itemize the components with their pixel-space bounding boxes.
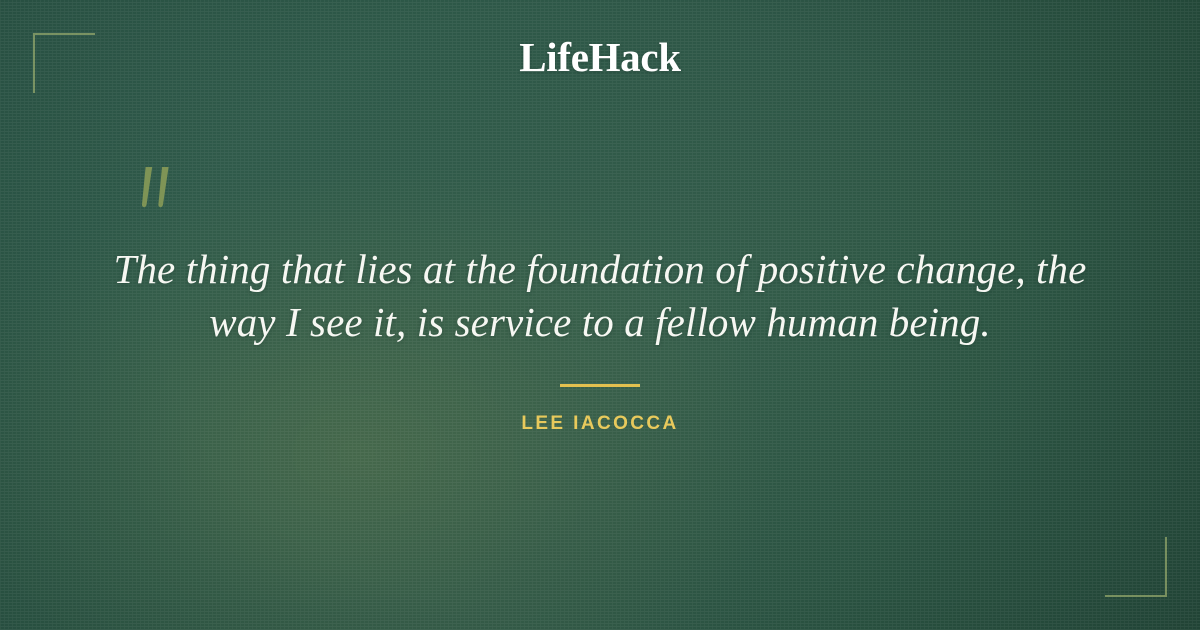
quote-author: LEE IACOCCA [0, 413, 1200, 436]
lifehack-logo: LifeHack [0, 37, 1200, 78]
double-quote-icon [131, 164, 191, 222]
quote-block: The thing that lies at the foundation of… [100, 243, 1100, 350]
quote-text: The thing that lies at the foundation of… [100, 243, 1100, 350]
corner-bracket-bottom-right-icon [1105, 537, 1167, 597]
quote-card: LifeHack The thing that lies at the foun… [0, 0, 1200, 630]
gold-divider [560, 384, 640, 387]
divider-wrapper [0, 383, 1200, 387]
